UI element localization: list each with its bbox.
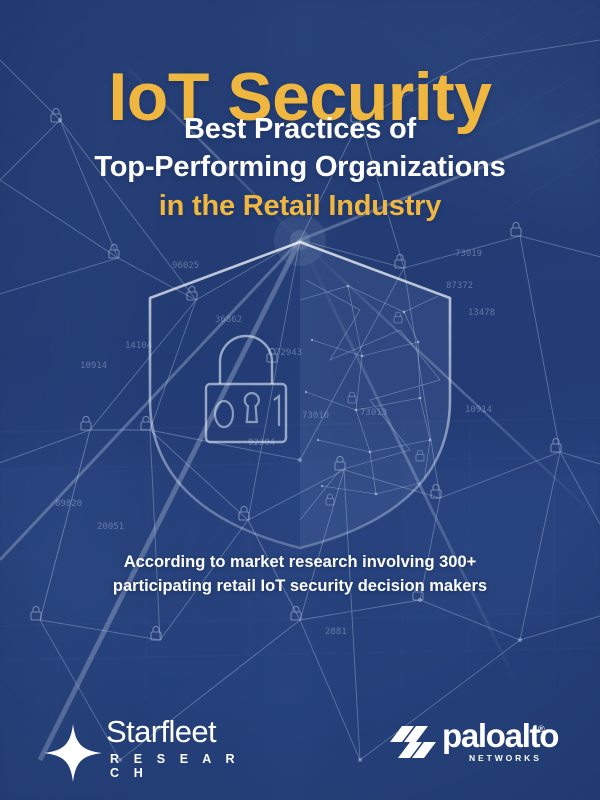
subtitle-line-2: Top-Performing Organizations <box>0 148 600 186</box>
blurb-line-1: According to market research involving 3… <box>50 551 550 575</box>
subtitle-block: Best Practices of Top-Performing Organiz… <box>0 110 600 225</box>
palo-alto-bars-icon <box>390 726 436 758</box>
logo-bar: Starfleet R E S E A R C H <box>0 706 600 782</box>
blurb-line-2: participating retail IoT security decisi… <box>50 575 550 599</box>
subtitle-line-3: in the Retail Industry <box>0 187 600 225</box>
paloalto-subtext: NETWORKS <box>469 753 542 763</box>
research-blurb: According to market research involving 3… <box>50 551 550 599</box>
four-point-star-icon <box>44 724 102 782</box>
subtitle-line-1: Best Practices of <box>0 110 600 148</box>
report-cover-page: 96025 87372 73010 10914 92304 10914 2881… <box>0 0 600 800</box>
paloalto-wordmark: paloalto <box>442 717 558 755</box>
cover-content: IoT Security Best Practices of Top-Perfo… <box>0 0 600 800</box>
starfleet-wordmark: Starfleet <box>106 714 216 750</box>
starfleet-subtext: R E S E A R C H <box>110 752 254 780</box>
registered-trademark-icon: ® <box>538 724 545 734</box>
paloalto-networks-logo: paloalto ® NETWORKS <box>390 720 560 770</box>
starfleet-research-logo: Starfleet R E S E A R C H <box>44 712 254 778</box>
